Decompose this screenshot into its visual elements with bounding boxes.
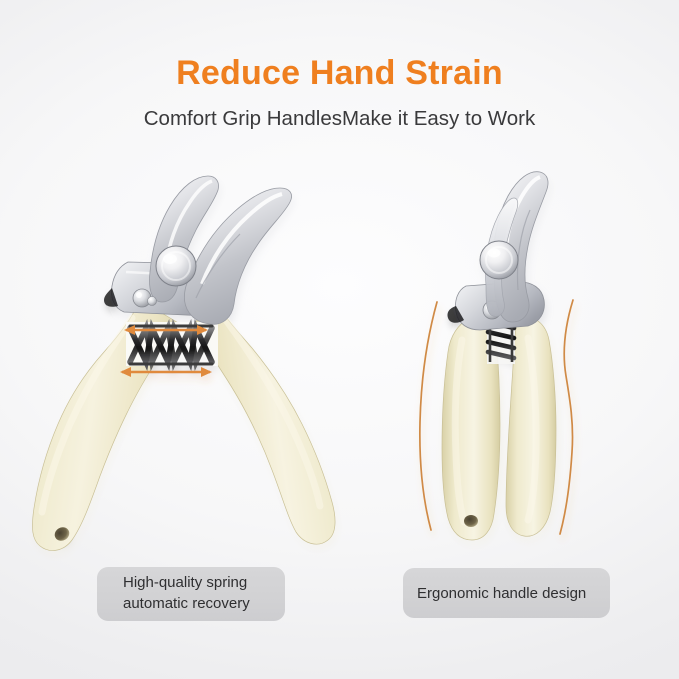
right-pruner-jaw-plate — [455, 282, 544, 330]
caption-badge-ergonomic-text: Ergonomic handle design — [417, 585, 586, 602]
spring-expansion-arrow-bottom — [120, 367, 212, 377]
left-pruner-jaw-plate — [112, 262, 229, 316]
left-pruner-counter-blade — [150, 176, 219, 302]
lanyard-hole-right — [464, 515, 478, 527]
rivet-right — [483, 301, 501, 319]
page-headline: Reduce Hand Strain — [0, 54, 679, 93]
left-pruner-handle-left — [32, 300, 180, 551]
caption-line-1: High-quality spring — [123, 573, 250, 594]
rivet-left — [133, 289, 151, 307]
left-pruner-handle-right — [192, 300, 335, 544]
lanyard-hole-left — [52, 525, 71, 544]
right-pruner-handle-right — [506, 317, 556, 536]
coil-spring-right — [487, 306, 515, 364]
pivot-bolt-right — [480, 241, 518, 279]
right-pruner-closed — [420, 172, 573, 540]
caption-line-2: automatic recovery — [123, 594, 250, 615]
left-pruner-open — [32, 176, 335, 551]
coil-spring-left — [126, 322, 218, 366]
handle-contour-line-left — [420, 302, 437, 530]
right-pruner-handle-left — [442, 317, 500, 540]
spring-expansion-arrow-top — [124, 325, 208, 335]
caption-badge-ergonomic: Ergonomic handle design — [403, 568, 610, 618]
page-subheadline: Comfort Grip HandlesMake it Easy to Work — [0, 107, 679, 131]
left-pruner-cutting-blade — [184, 188, 291, 324]
handle-contour-line-right — [560, 300, 573, 534]
right-pruner-blade — [494, 172, 548, 322]
product-feature-image: Reduce Hand Strain Comfort Grip HandlesM… — [0, 0, 679, 679]
caption-badge-spring-text: High-quality spring automatic recovery — [123, 573, 250, 614]
pivot-bolt-left — [156, 246, 196, 286]
caption-badge-spring: High-quality spring automatic recovery — [97, 567, 285, 621]
